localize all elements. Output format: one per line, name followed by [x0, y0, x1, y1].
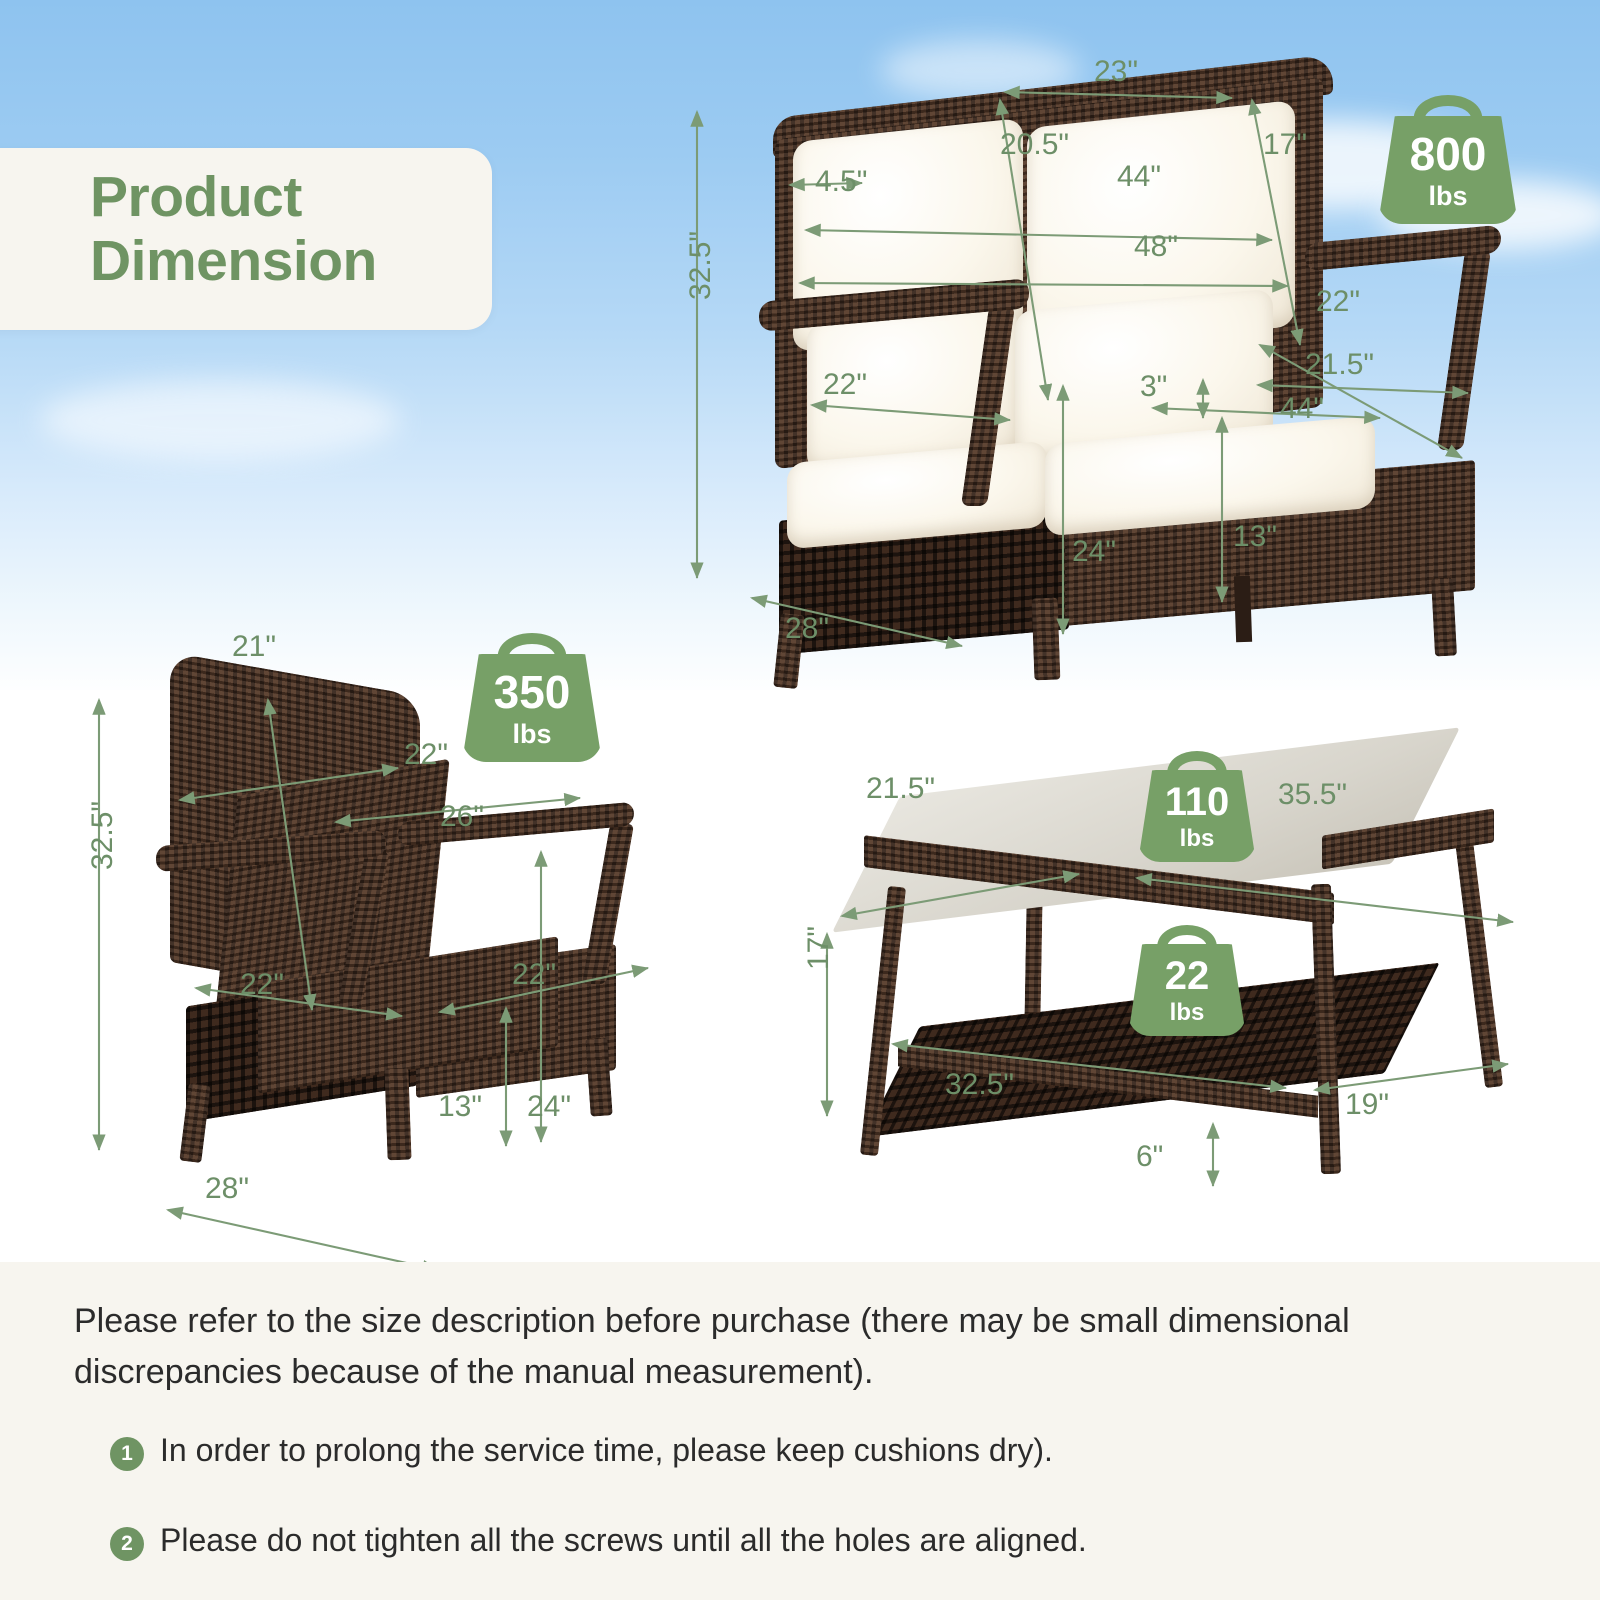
dim-loveseat-back-top-width: 23" [1094, 55, 1138, 89]
note-item-1: 1 In order to prolong the service time, … [110, 1432, 1510, 1471]
dim-loveseat-height: 32.5" [684, 231, 718, 300]
weight-badge-110lbs: 110 lbs [1138, 740, 1256, 862]
note-number-badge: 1 [110, 1437, 144, 1471]
badge-unit: lbs [1180, 827, 1215, 851]
loveseat-leg-front-right [1032, 598, 1061, 681]
badge-body: 22 lbs [1128, 944, 1246, 1036]
dim-table-top-depth: 21.5" [866, 772, 935, 806]
table-leg-back-right [1455, 838, 1503, 1088]
dim-chair-back-width: 22" [404, 738, 448, 772]
badge-value: 110 [1165, 782, 1230, 822]
weight-badge-350lbs: 350 lbs [462, 620, 602, 762]
dim-loveseat-cushion-thick: 3" [1140, 370, 1167, 404]
dim-loveseat-cushion-depth: 21.5" [1305, 348, 1374, 382]
weight-badge-22lbs: 22 lbs [1128, 914, 1246, 1036]
dim-chair-height: 32.5" [86, 801, 120, 870]
dim-table-height: 17" [802, 926, 836, 970]
dim-loveseat-back-width: 48" [1134, 230, 1178, 264]
loveseat-leg-middle [1234, 576, 1252, 643]
dim-chair-back-top-width: 21" [232, 630, 276, 664]
dim-loveseat-back-offset: 4.5" [815, 165, 867, 199]
dim-chair-seat-depth: 22" [512, 958, 556, 992]
loveseat-leg-back-right [1431, 577, 1457, 656]
dim-chair-arm-length: 26" [440, 800, 484, 834]
dim-loveseat-seat-depth-l: 22" [823, 368, 867, 402]
note-item-2: 2 Please do not tighten all the screws u… [110, 1522, 1510, 1561]
note-text: In order to prolong the service time, pl… [160, 1432, 1053, 1469]
dim-loveseat-front-width: 44" [1280, 392, 1324, 426]
notes-intro-text: Please refer to the size description bef… [74, 1296, 1494, 1398]
dim-table-shelf-floor: 6" [1136, 1140, 1163, 1174]
weight-badge-800lbs: 800 lbs [1378, 82, 1518, 224]
cloud-shape [40, 380, 400, 460]
note-text: Please do not tighten all the screws unt… [160, 1522, 1087, 1559]
chair-leg-front-right [384, 1068, 411, 1161]
dim-table-top-width: 35.5" [1278, 778, 1347, 812]
title-line-2: Dimension [90, 230, 510, 294]
chair-leg-front-left [179, 1083, 210, 1163]
dim-loveseat-base-height: 13" [1233, 520, 1277, 554]
badge-unit: lbs [1170, 1001, 1205, 1025]
badge-unit: lbs [512, 721, 551, 748]
chair-arm-post-right [582, 824, 634, 984]
badge-value: 350 [494, 669, 571, 715]
badge-value: 800 [1410, 131, 1487, 177]
dim-loveseat-seat-height: 24" [1072, 535, 1116, 569]
dim-chair-depth: 28" [205, 1172, 249, 1206]
badge-value: 22 [1165, 956, 1210, 996]
page-title: Product Dimension [90, 166, 510, 294]
dim-chair-seat-height: 24" [527, 1090, 571, 1124]
dim-loveseat-back-cushion-w: 44" [1117, 160, 1161, 194]
badge-body: 800 lbs [1378, 116, 1518, 224]
dim-loveseat-back-cushion-h: 20.5" [1000, 128, 1069, 162]
badge-body: 350 lbs [462, 654, 602, 762]
title-line-1: Product [90, 166, 510, 230]
dim-loveseat-seat-depth-r: 22" [1316, 285, 1360, 319]
dim-chair-base-height: 13" [438, 1090, 482, 1124]
badge-unit: lbs [1428, 183, 1467, 210]
badge-body: 110 lbs [1138, 770, 1256, 862]
dim-chair-seat-width: 22" [240, 968, 284, 1002]
dim-loveseat-back-right-h: 17" [1263, 128, 1307, 162]
note-number-badge: 2 [110, 1527, 144, 1561]
dim-table-shelf-width: 32.5" [945, 1068, 1014, 1102]
dim-table-shelf-depth: 19" [1345, 1088, 1389, 1122]
dim-loveseat-depth: 28" [785, 612, 829, 646]
